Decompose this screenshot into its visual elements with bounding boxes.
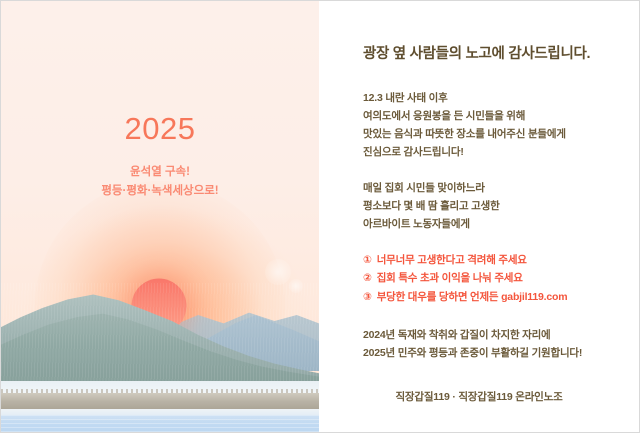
paragraph-second: 매일 집회 시민들 맞이하느라 평소보다 몇 배 땀 흘리고 고생한 아르바이트… [363,179,613,233]
slogan-line-2: 평등·평화·녹색세상으로! [1,182,319,201]
slogan-line-1: 윤석열 구속! [1,163,319,182]
list-marker-2: ② [363,269,372,287]
lens-flare-icon [265,259,291,285]
closing-line-2: 2025년 민주와 평등과 존중이 부활하길 기원합니다! [363,344,613,362]
list-item: ② 집회 특수 초과 이익을 나눠 주세요 [363,269,613,287]
poster-card: 2025 윤석열 구속! 평등·평화·녹색세상으로! 광장 옆 사람들의 노고에… [0,0,640,433]
paragraph-first-line-4: 진심으로 감사드립니다! [363,143,613,161]
list-marker-3: ③ [363,288,372,306]
list-text-3: 부당한 대우를 당하면 언제든 gabjil119.com [377,288,568,306]
list-marker-1: ① [363,251,372,269]
paragraph-first-line-3: 맛있는 음식과 따뜻한 장소를 내어주신 분들에게 [363,125,613,143]
slogan-block: 윤석열 구속! 평등·평화·녹색세상으로! [1,163,319,200]
list-item: ③ 부당한 대우를 당하면 언제든 gabjil119.com [363,288,613,306]
signature: 직장갑질119 · 직장갑질119 온라인노조 [363,389,613,404]
paragraph-first-line-2: 여의도에서 응원봉을 든 시민들을 위해 [363,107,613,125]
list-item: ① 너무너무 고생한다고 격려해 주세요 [363,251,613,269]
list-text-1: 너무너무 고생한다고 격려해 주세요 [377,251,527,269]
paragraph-second-line-1: 매일 집회 시민들 맞이하느라 [363,179,613,197]
message-panel: 광장 옆 사람들의 노고에 감사드립니다. 12.3 내란 사태 이후 여의도에… [319,1,639,432]
water-ripple-texture [1,415,319,432]
closing-line-1: 2024년 독재와 착취와 갑질이 차지한 자리에 [363,326,613,344]
paragraph-first-line-1: 12.3 내란 사태 이후 [363,89,613,107]
request-list: ① 너무너무 고생한다고 격려해 주세요 ② 집회 특수 초과 이익을 나눠 주… [363,251,613,306]
list-text-2: 집회 특수 초과 이익을 나눠 주세요 [377,269,523,287]
paragraph-second-line-3: 아르바이트 노동자들에게 [363,215,613,233]
left-text-overlay: 2025 윤석열 구속! 평등·평화·녹색세상으로! [1,113,319,200]
paragraph-second-line-2: 평소보다 몇 배 땀 흘리고 고생한 [363,197,613,215]
year-heading: 2025 [1,113,319,144]
lens-flare-small-icon [289,279,303,293]
paragraph-first: 12.3 내란 사태 이후 여의도에서 응원봉을 든 시민들을 위해 맛있는 음… [363,89,613,161]
message-title: 광장 옆 사람들의 노고에 감사드립니다. [363,45,613,64]
closing-paragraph: 2024년 독재와 착취와 갑질이 차지한 자리에 2025년 민주와 평등과 … [363,326,613,363]
illustration-panel: 2025 윤석열 구속! 평등·평화·녹색세상으로! [1,1,319,432]
